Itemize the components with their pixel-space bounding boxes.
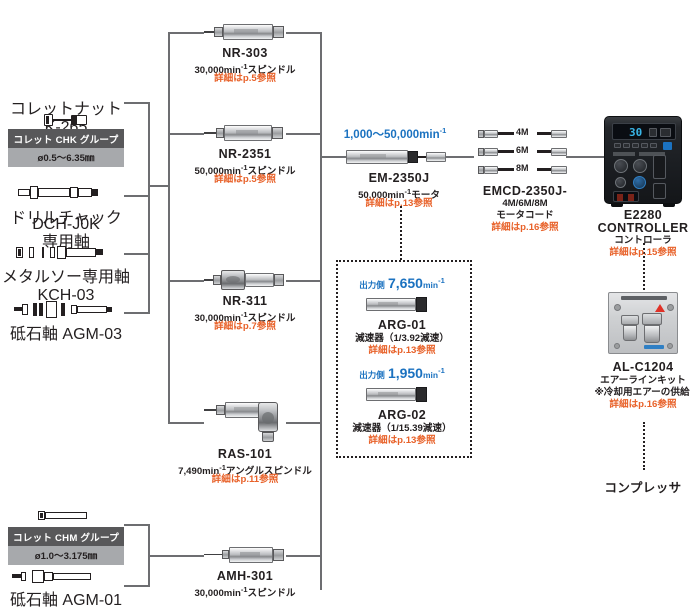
drill-chuck-shaft-icon [8,183,124,201]
reducer-arg02-output: 出力側 1,950min-1 [340,364,464,382]
grinding-shaft-agm03-icon [8,300,124,318]
reducer-arg01-model: ARG-01 [340,318,464,332]
controller-ref: 詳細はp.15参照 [590,247,696,259]
connector-spine-to-motor [320,156,346,158]
motor-cord-model-line2: 4M/6M/8M [462,198,588,210]
connector-chk-drill [124,195,150,197]
spindle-nr311-model: NR-311 [180,294,310,308]
connector-ras101-right [286,422,322,424]
connector-to-nr311 [168,280,204,282]
reducer-arg01-ref: 詳細はp.13参照 [340,345,464,357]
reducer-arg01-icon [366,294,438,314]
chm-shaft-icon [8,507,124,523]
motor-cord-model-line1: EMCD-2350J- [462,184,588,198]
controller-unit-icon: 30 [604,116,682,204]
air-kit-ref: 詳細はp.16参照 [590,399,696,411]
spindle-ras101-model: RAS-101 [180,447,310,461]
spindle-nr303-ref: 詳細はp.5参照 [180,73,310,85]
reducer-arg02-ref: 詳細はp.13参照 [340,435,464,447]
connector-motor-to-reducers [400,206,402,260]
connector-chk-nut [124,102,150,104]
connector-nr311-right [286,280,322,282]
controller-model-line2: CONTROLLER [590,221,696,235]
connector-cord-to-controller [566,156,604,158]
air-kit-model: AL-C1204 [596,360,690,374]
compressor-label: コンプレッサ [590,481,696,495]
connector-main-left-spine [168,32,170,422]
motor-cord-icon-group: 4M 6M 8M [478,128,570,184]
spindle-amh301-desc: 30,000min-1スピンドル [170,584,320,600]
connector-chk-bracket-vertical [148,102,150,314]
cord-length-4m: 4M [516,127,529,137]
air-line-kit-icon [608,292,678,354]
spindle-nr303-model: NR-303 [180,46,310,60]
spindle-nr2351-model: NR-2351 [180,147,310,161]
cord-length-8m: 8M [516,163,529,173]
grinding-shaft-agm03-label: 砥石軸 AGM-03 [4,320,128,344]
spindle-nr311-ref: 詳細はp.7参照 [180,321,310,333]
spindle-nr311-icon [204,266,286,294]
collet-chk-group-body: ø0.5〜6.35㎜ [8,148,124,167]
connector-chk-to-main [148,185,170,187]
collet-nut-icon [8,112,124,128]
connector-spindle-right-spine [320,32,322,590]
collet-chm-group-box: コレット CHM グループ ø1.0〜3.175㎜ [8,527,124,565]
connector-chm-top [124,524,150,526]
reducer-arg01-output: 出力側 7,650min-1 [340,274,464,292]
connector-chk-grind [124,312,150,314]
grinding-shaft-agm01-icon [8,568,124,584]
spindle-amh301-model: AMH-301 [180,569,310,583]
connector-to-ras101 [168,422,204,424]
spindle-nr2351-ref: 詳細はp.5参照 [180,174,310,186]
reducer-arg02-icon [366,384,438,404]
grinding-shaft-agm01-label: 砥石軸 AGM-01 [4,586,128,610]
spindle-amh301-icon [204,543,286,567]
connector-amh-right [286,555,322,557]
air-kit-desc: エアーラインキット [590,375,696,387]
controller-model-line1: E2280 [596,208,690,222]
controller-display-value: 30 [629,127,642,138]
collet-chm-group-head: コレット CHM グループ [8,527,124,546]
metal-saw-label: メタルソー専用軸 KCH-03 [2,263,130,305]
cord-length-6m: 6M [516,145,529,155]
motor-ref: 詳細はp.13参照 [336,198,462,210]
connector-chk-saw [124,253,150,255]
controller-desc: コントローラ [596,235,690,247]
spindle-nr2351-icon [204,121,286,145]
reducer-arg02-desc: 減速器（1/15.39減速） [330,423,474,435]
connector-airkit-to-compressor [643,422,645,470]
connector-motor-to-cord [446,156,474,158]
reducer-arg01-desc: 減速器（1/3.92減速） [332,333,472,345]
motor-model: EM-2350J [336,171,462,185]
metal-saw-shaft-icon [8,243,124,261]
spindle-ras101-icon [204,390,290,446]
reducer-arg02-model: ARG-02 [340,408,464,422]
connector-to-nr303 [168,32,204,34]
drill-chuck-label-line2: DCH-J0K [4,216,128,234]
collet-chk-group-box: コレット CHK グループ ø0.5〜6.35㎜ [8,129,124,167]
air-kit-note: ※冷却用エアーの供給 [588,387,696,399]
collet-chk-group-head: コレット CHK グループ [8,129,124,148]
spindle-ras101-ref: 詳細はp.11参照 [180,474,310,486]
diagram-canvas: コレットナット K-265 コレット CHK グループ ø0.5〜6.35㎜ ド… [0,0,696,601]
motor-cord-desc: モータコード [462,210,588,222]
motor-cord-ref: 詳細はp.16参照 [462,222,588,234]
motor-em2350j-icon [346,146,446,168]
spindle-nr303-icon [204,20,286,44]
motor-speed-range: 1,000〜50,000min-1 [330,124,460,142]
connector-chm-to-amh [148,555,204,557]
connector-nr303-right [286,32,322,34]
collet-chm-group-body: ø1.0〜3.175㎜ [8,546,124,565]
connector-to-nr2351 [168,133,204,135]
connector-nr2351-right [286,133,322,135]
